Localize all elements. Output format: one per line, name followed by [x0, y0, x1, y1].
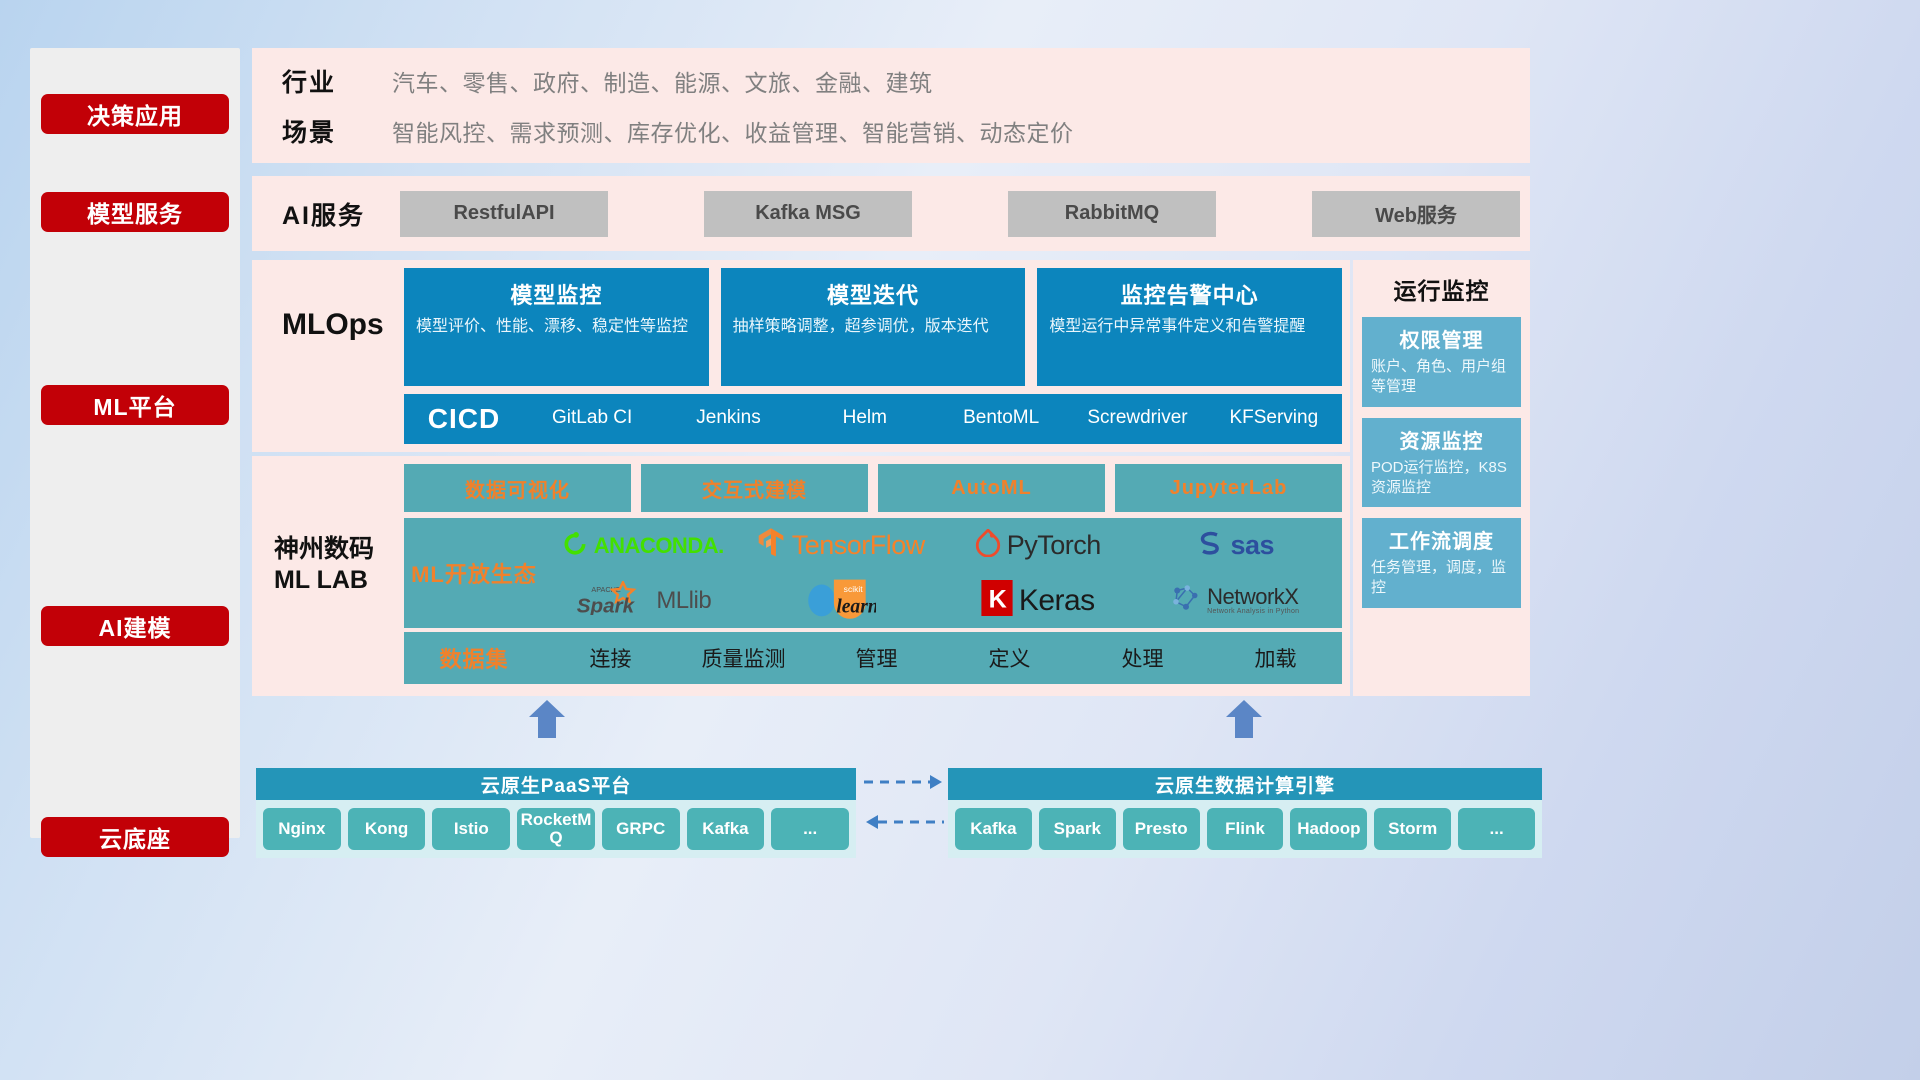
- ai-service-panel: AI服务 RestfulAPI Kafka MSG RabbitMQ Web服务: [252, 176, 1530, 251]
- decision-apps-panel: 行业 汽车、零售、政府、制造、能源、文旅、金融、建筑 场景 智能风控、需求预测、…: [252, 48, 1530, 163]
- scenario-key: 场景: [282, 113, 392, 149]
- anaconda-icon: [562, 530, 588, 561]
- dataset-item-process[interactable]: 处理: [1076, 643, 1209, 673]
- mlops-card-alert-center[interactable]: 监控告警中心 模型运行中异常事件定义和告警提醒: [1037, 268, 1342, 386]
- scenario-values: 智能风控、需求预测、库存优化、收益管理、智能营销、动态定价: [392, 114, 1074, 148]
- ml-lab-tool-jupyterlab[interactable]: JupyterLab: [1115, 464, 1342, 512]
- dataset-item-quality[interactable]: 质量监测: [677, 643, 810, 673]
- ai-service-chip-kafka-msg[interactable]: Kafka MSG: [704, 191, 912, 237]
- keras-icon: K: [981, 580, 1013, 621]
- ai-service-chip-list: RestfulAPI Kafka MSG RabbitMQ Web服务: [400, 191, 1524, 237]
- cloud-data-engine-chip-storm[interactable]: Storm: [1374, 808, 1451, 850]
- card-desc: 账户、角色、用户组等管理: [1371, 357, 1512, 398]
- cloud-paas-chip-more[interactable]: ...: [771, 808, 849, 850]
- ops-monitor-title: 运行监控: [1353, 260, 1530, 306]
- pytorch-icon: [975, 529, 1001, 562]
- card-title: 工作流调度: [1371, 525, 1512, 554]
- mlops-card-model-monitoring[interactable]: 模型监控 模型评价、性能、漂移、稳定性等监控: [404, 268, 709, 386]
- dataset-item-list: 连接 质量监测 管理 定义 处理 加载: [544, 643, 1342, 673]
- cloud-data-engine-chip-list: Kafka Spark Presto Flink Hadoop Storm ..…: [948, 800, 1542, 858]
- cloud-paas-chip-kong[interactable]: Kong: [348, 808, 426, 850]
- layer-rail: 决策应用 模型服务 ML平台 AI建模: [30, 48, 240, 838]
- cicd-title: CICD: [404, 403, 524, 435]
- keras-logo-text: Keras: [1019, 584, 1095, 618]
- cicd-bar: CICD GitLab CI Jenkins Helm BentoML Scre…: [404, 394, 1342, 444]
- industry-values: 汽车、零售、政府、制造、能源、文旅、金融、建筑: [392, 64, 933, 98]
- ml-lab-key-line1: 神州数码: [274, 534, 404, 565]
- networkx-icon: [1171, 584, 1201, 617]
- cicd-item-gitlab-ci[interactable]: GitLab CI: [524, 407, 660, 431]
- ops-monitor-panel: 运行监控 权限管理 账户、角色、用户组等管理 资源监控 POD运行监控，K8S资…: [1353, 260, 1530, 696]
- dataset-item-load[interactable]: 加载: [1209, 643, 1342, 673]
- card-title: 资源监控: [1371, 425, 1512, 454]
- svg-text:scikit: scikit: [844, 584, 864, 594]
- ai-service-key: AI服务: [282, 196, 400, 232]
- ops-card-workflow-scheduling[interactable]: 工作流调度 任务管理，调度，监控: [1362, 518, 1521, 608]
- industry-row: 行业 汽车、零售、政府、制造、能源、文旅、金融、建筑: [282, 56, 1530, 106]
- cloud-paas-chip-kafka[interactable]: Kafka: [687, 808, 765, 850]
- cicd-item-screwdriver[interactable]: Screwdriver: [1069, 407, 1205, 431]
- ops-card-permission-management[interactable]: 权限管理 账户、角色、用户组等管理: [1362, 317, 1521, 407]
- networkx-logo: NetworkX Network Analysis in Python: [1171, 584, 1299, 617]
- ml-lab-tool-data-visualization[interactable]: 数据可视化: [404, 464, 631, 512]
- up-arrow-icon-left: [525, 700, 569, 738]
- cicd-item-list: GitLab CI Jenkins Helm BentoML Screwdriv…: [524, 407, 1342, 431]
- ml-ecosystem-row: ML开放生态 ANACONDA. TensorFlow PyTorch: [404, 518, 1342, 628]
- tensorflow-logo-text: TensorFlow: [792, 530, 925, 561]
- cloud-data-engine-chip-spark[interactable]: Spark: [1039, 808, 1116, 850]
- card-title: 监控告警中心: [1049, 278, 1330, 310]
- svg-text:learn: learn: [837, 597, 877, 618]
- cloud-paas-group: 云原生PaaS平台 Nginx Kong Istio RocketMQ GRPC…: [256, 735, 856, 858]
- cloud-data-engine-group: 云原生数据计算引擎 Kafka Spark Presto Flink Hadoo…: [948, 735, 1542, 858]
- card-desc: 任务管理，调度，监控: [1371, 558, 1512, 599]
- mlops-panel: MLOps 模型监控 模型评价、性能、漂移、稳定性等监控 模型迭代 抽样策略调整…: [252, 260, 1350, 452]
- card-title: 模型迭代: [733, 278, 1014, 310]
- dataset-item-connect[interactable]: 连接: [544, 643, 677, 673]
- dataset-item-define[interactable]: 定义: [943, 643, 1076, 673]
- sas-logo-text: sas: [1230, 530, 1274, 561]
- mlops-card-model-iteration[interactable]: 模型迭代 抽样策略调整，超参调优，版本迭代: [721, 268, 1026, 386]
- cloud-paas-chip-nginx[interactable]: Nginx: [263, 808, 341, 850]
- ml-ecosystem-label: ML开放生态: [404, 557, 544, 589]
- scikit-learn-icon: scikit learn: [804, 576, 876, 625]
- scikit-learn-logo: scikit learn: [804, 576, 876, 625]
- dataset-label: 数据集: [404, 642, 544, 674]
- ml-lab-tool-list: 数据可视化 交互式建模 AutoML JupyterLab: [404, 464, 1342, 512]
- ai-service-chip-web[interactable]: Web服务: [1312, 191, 1520, 237]
- cloud-paas-chip-istio[interactable]: Istio: [432, 808, 510, 850]
- card-title: 模型监控: [416, 278, 697, 310]
- tensorflow-logo: TensorFlow: [756, 527, 925, 564]
- sas-logo: sas: [1196, 530, 1274, 561]
- card-desc: 模型评价、性能、漂移、稳定性等监控: [416, 316, 697, 338]
- sas-icon: [1196, 530, 1224, 561]
- networkx-tagline: Network Analysis in Python: [1207, 608, 1299, 615]
- industry-key: 行业: [282, 63, 392, 99]
- layer-chip-decision-apps[interactable]: 决策应用: [41, 94, 229, 134]
- layer-chip-cloud-base[interactable]: 云底座: [41, 817, 229, 857]
- pytorch-logo-text: PyTorch: [1007, 530, 1101, 561]
- spark-mllib-logo: APACHE Spark MLlib: [574, 581, 711, 620]
- cicd-item-kfserving[interactable]: KFServing: [1206, 407, 1342, 431]
- scenario-row: 场景 智能风控、需求预测、库存优化、收益管理、智能营销、动态定价: [282, 106, 1530, 156]
- card-desc: 抽样策略调整，超参调优，版本迭代: [733, 316, 1014, 338]
- anaconda-logo-text: ANACONDA.: [594, 533, 724, 559]
- anaconda-logo: ANACONDA.: [562, 530, 724, 561]
- card-title: 权限管理: [1371, 324, 1512, 353]
- dataset-item-manage[interactable]: 管理: [810, 643, 943, 673]
- up-arrow-icon-right: [1222, 700, 1266, 738]
- layer-chip-label: ML平台: [93, 388, 176, 422]
- ops-card-resource-monitoring[interactable]: 资源监控 POD运行监控，K8S资源监控: [1362, 418, 1521, 508]
- cloud-data-engine-chip-hadoop[interactable]: Hadoop: [1290, 808, 1367, 850]
- layer-chip-label: 云底座: [99, 820, 171, 854]
- ml-lab-key: 神州数码 ML LAB: [274, 534, 404, 597]
- bidirectional-dashed-arrows-icon: [862, 772, 946, 834]
- dataset-row: 数据集 连接 质量监测 管理 定义 处理 加载: [404, 632, 1342, 684]
- cloud-paas-header: 云原生PaaS平台: [256, 768, 856, 800]
- cloud-data-engine-chip-more[interactable]: ...: [1458, 808, 1535, 850]
- keras-logo: K Keras: [981, 580, 1095, 621]
- svg-text:K: K: [988, 586, 1006, 614]
- cloud-data-engine-chip-presto[interactable]: Presto: [1123, 808, 1200, 850]
- card-desc: POD运行监控，K8S资源监控: [1371, 458, 1512, 499]
- mlops-key: MLOps: [282, 260, 422, 390]
- layer-chip-label: 模型服务: [87, 195, 183, 229]
- ai-service-chip-rabbitmq[interactable]: RabbitMQ: [1008, 191, 1216, 237]
- cicd-item-jenkins[interactable]: Jenkins: [660, 407, 796, 431]
- ai-service-chip-restfulapi[interactable]: RestfulAPI: [400, 191, 608, 237]
- cicd-item-bentoml[interactable]: BentoML: [933, 407, 1069, 431]
- spark-mllib-logo-text: MLlib: [656, 587, 711, 615]
- cloud-paas-chip-list: Nginx Kong Istio RocketMQ GRPC Kafka ...: [256, 800, 856, 858]
- layer-chip-model-service[interactable]: 模型服务: [41, 192, 229, 232]
- layer-chip-label: AI建模: [99, 609, 172, 643]
- ml-ecosystem-logo-grid: ANACONDA. TensorFlow PyTorch sas: [544, 518, 1342, 628]
- ml-lab-tool-interactive-modeling[interactable]: 交互式建模: [641, 464, 868, 512]
- cicd-item-helm[interactable]: Helm: [797, 407, 933, 431]
- svg-text:Spark: Spark: [577, 595, 636, 615]
- cloud-data-engine-chip-flink[interactable]: Flink: [1207, 808, 1284, 850]
- cloud-paas-chip-grpc[interactable]: GRPC: [602, 808, 680, 850]
- ml-lab-key-line2: ML LAB: [274, 565, 404, 596]
- card-desc: 模型运行中异常事件定义和告警提醒: [1049, 316, 1330, 338]
- layer-chip-ai-modeling[interactable]: AI建模: [41, 606, 229, 646]
- cloud-data-engine-header: 云原生数据计算引擎: [948, 768, 1542, 800]
- pytorch-logo: PyTorch: [975, 529, 1101, 562]
- layer-chip-label: 决策应用: [87, 97, 183, 131]
- cloud-paas-chip-rocketmq[interactable]: RocketMQ: [517, 808, 595, 850]
- ml-lab-tool-automl[interactable]: AutoML: [878, 464, 1105, 512]
- cloud-data-engine-chip-kafka[interactable]: Kafka: [955, 808, 1032, 850]
- layer-chip-ml-platform[interactable]: ML平台: [41, 385, 229, 425]
- spark-icon: APACHE Spark: [574, 581, 650, 620]
- ml-lab-panel: 神州数码 ML LAB 数据可视化 交互式建模 AutoML JupyterLa…: [252, 456, 1350, 696]
- networkx-logo-text: NetworkX: [1207, 586, 1299, 608]
- tensorflow-icon: [756, 527, 786, 564]
- mlops-card-list: 模型监控 模型评价、性能、漂移、稳定性等监控 模型迭代 抽样策略调整，超参调优，…: [404, 268, 1342, 386]
